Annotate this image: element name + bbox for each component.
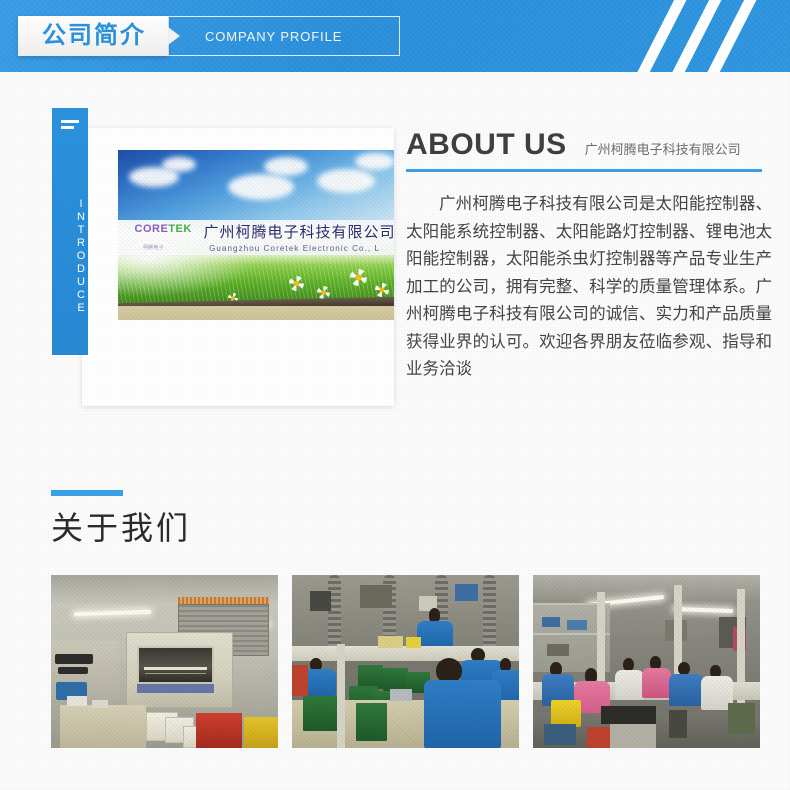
about-heading-rule bbox=[406, 169, 762, 172]
about-body-paragraph: 广州柯腾电子科技有限公司是太阳能控制器、太阳能系统控制器、太阳能路灯控制器、锂电… bbox=[406, 191, 772, 384]
logo-subtext-cn: 柯腾电子 bbox=[143, 244, 164, 251]
banner-diagonal-stripes-icon bbox=[640, 0, 790, 72]
about-heading-row: ABOUT US 广州柯腾电子科技有限公司 bbox=[406, 130, 776, 160]
banner-title-tab: 公司简介 bbox=[18, 16, 168, 56]
factory-smt-line-photo[interactable] bbox=[51, 575, 278, 748]
coretek-logo: CORETEK bbox=[135, 224, 192, 235]
logo-text-core: CORE bbox=[135, 223, 169, 235]
factory-assembly-bench-photo[interactable] bbox=[292, 575, 519, 748]
introduce-side-label: INTRODUCE bbox=[52, 198, 88, 315]
company-wall-sign-photo: CORETEK 柯腾电子 广州柯腾电子科技有限公司 Guangzhou Core… bbox=[118, 150, 394, 320]
gallery-accent-bar bbox=[51, 490, 123, 496]
banner-tab-arrow-icon bbox=[168, 27, 180, 45]
factory-workshop-photo[interactable] bbox=[533, 575, 760, 748]
menu-lines-icon bbox=[61, 120, 79, 132]
about-text-column: ABOUT US 广州柯腾电子科技有限公司 广州柯腾电子科技有限公司是太阳能控制… bbox=[406, 130, 776, 384]
factory-photo-gallery bbox=[51, 575, 760, 748]
gallery-heading-block: 关于我们 bbox=[51, 490, 191, 544]
introduce-side-tab: INTRODUCE bbox=[52, 108, 88, 355]
logo-text-tek: TEK bbox=[168, 223, 192, 235]
gallery-title: 关于我们 bbox=[51, 512, 191, 544]
banner-title-cn: 公司简介 bbox=[42, 24, 146, 48]
photo-floor bbox=[118, 306, 394, 320]
about-section: INTRODUCE bbox=[0, 72, 790, 472]
wall-company-name-cn: 广州柯腾电子科技有限公司 bbox=[204, 221, 394, 242]
about-heading-cn: 广州柯腾电子科技有限公司 bbox=[585, 139, 741, 158]
about-heading-en: ABOUT US bbox=[406, 130, 567, 160]
wall-company-name-en: Guangzhou Coretek Electronic Co., L bbox=[209, 244, 380, 253]
banner-subtitle-en: COMPANY PROFILE bbox=[205, 29, 342, 44]
company-photo-card: CORETEK 柯腾电子 广州柯腾电子科技有限公司 Guangzhou Core… bbox=[82, 128, 394, 406]
page-banner: COMPANY PROFILE 公司简介 bbox=[0, 0, 790, 72]
banner-subtitle-box: COMPANY PROFILE bbox=[168, 16, 400, 56]
